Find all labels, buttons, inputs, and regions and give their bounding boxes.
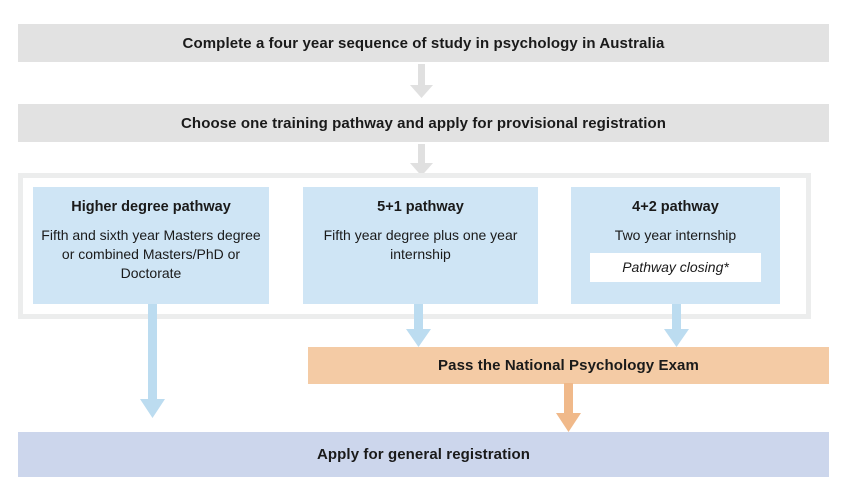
arrow-5plus1-to-exam: [405, 304, 432, 348]
pathway-description-higher-degree: Fifth and sixth year Masters degree or c…: [41, 226, 261, 283]
flowchart-canvas: Complete a four year sequence of study i…: [0, 0, 843, 501]
step-complete-study: Complete a four year sequence of study i…: [18, 24, 829, 62]
pathway-card-4plus2: 4+2 pathway Two year internship Pathway …: [571, 187, 780, 304]
arrow-4plus2-to-exam: [663, 304, 690, 348]
pathway-closing-note: Pathway closing*: [590, 253, 761, 282]
pathway-title-5plus1: 5+1 pathway: [311, 198, 530, 217]
pathway-card-higher-degree: Higher degree pathway Fifth and sixth ye…: [33, 187, 269, 304]
arrow-exam-to-registration: [555, 383, 582, 433]
arrow-study-to-choose: [409, 64, 434, 99]
pathway-description-5plus1: Fifth year degree plus one year internsh…: [311, 226, 530, 264]
step-choose-pathway: Choose one training pathway and apply fo…: [18, 104, 829, 142]
pathway-description-4plus2: Two year internship: [579, 226, 772, 245]
arrow-higher-degree-to-registration: [139, 304, 166, 419]
pathway-card-5plus1: 5+1 pathway Fifth year degree plus one y…: [303, 187, 538, 304]
step-general-registration: Apply for general registration: [18, 432, 829, 477]
step-national-exam: Pass the National Psychology Exam: [308, 347, 829, 384]
pathway-title-4plus2: 4+2 pathway: [579, 198, 772, 217]
pathway-title-higher-degree: Higher degree pathway: [41, 198, 261, 217]
